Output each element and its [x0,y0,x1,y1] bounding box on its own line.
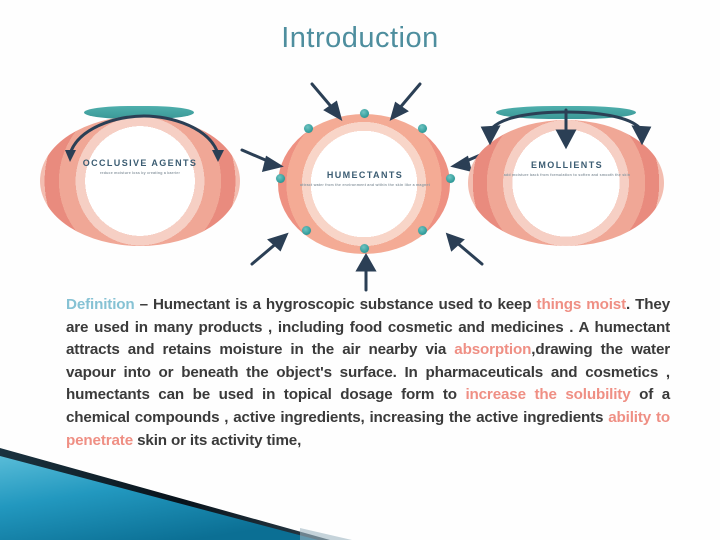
body-text-5: skin or its activity time, [133,432,301,449]
diagram-node-humectants: HUMECTANTS attract water from the enviro… [240,86,490,276]
definition-paragraph: Definition – Humectant is a hygroscopic … [66,294,670,452]
definition-dash: – [135,296,153,313]
highlight-increase-solubility: increase the solubility [465,386,630,403]
highlight-things-moist: things moist [537,296,626,313]
presentation-slide: Introduction OCCLUSIVE AGENTS reduce moi… [0,0,720,540]
page-title: Introduction [0,22,720,55]
diagram-node-emollients: EMOLLIENTS add moisture back from formul… [462,106,672,246]
highlight-absorption: absorption [454,341,531,358]
body-text-1: Humectant is a hygroscopic substance use… [153,296,537,313]
definition-label: Definition [66,296,135,313]
downward-arrows-emollients [462,104,672,174]
skin-moisturizer-mechanisms-diagram: OCCLUSIVE AGENTS reduce moisture loss by… [40,78,690,278]
